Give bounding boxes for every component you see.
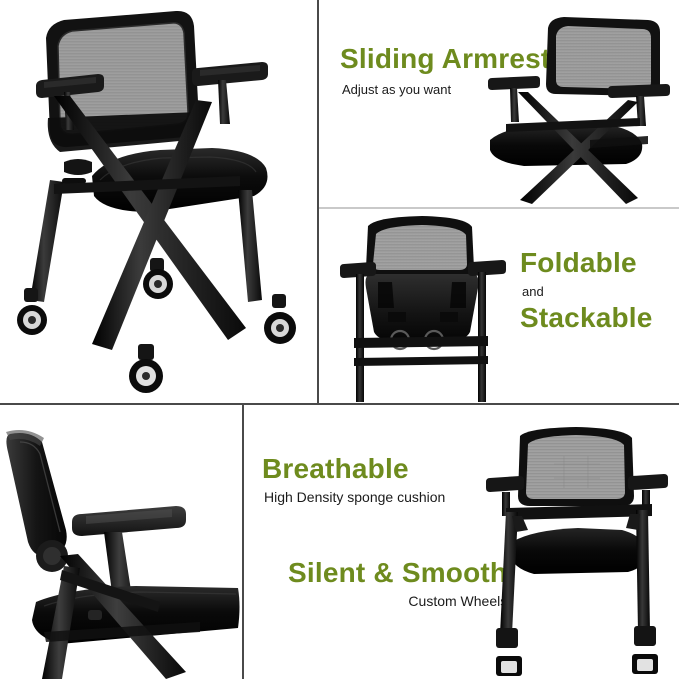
panel-foldable-stackable: Foldable and Stackable — [320, 210, 679, 403]
divider-vertical-top — [317, 0, 319, 404]
armrest-pad-left — [486, 476, 524, 492]
armrest-post-right — [218, 80, 230, 124]
armrest-pad-right — [628, 474, 668, 490]
leg-rear-right — [238, 190, 262, 302]
smooth-text-block: Silent & Smooth Custom Wheels — [288, 558, 507, 609]
foldable-text-block: Foldable and Stackable — [520, 248, 653, 333]
leg-left — [500, 512, 518, 634]
profile-chair-illustration — [0, 406, 241, 679]
smooth-subline: Custom Wheels — [288, 593, 507, 609]
panel-sliding-armrest: Sliding Armrest Adjust as you want — [320, 0, 679, 207]
stretcher-lower — [354, 356, 488, 366]
hero-chair-illustration — [0, 0, 317, 403]
armrest-pad-right — [608, 84, 670, 98]
mesh-panel — [373, 225, 467, 270]
folded-chair-illustration — [330, 212, 520, 403]
panel-hero-chair — [0, 0, 317, 403]
backrest-profile — [6, 433, 66, 557]
leg-rear-left — [30, 180, 64, 302]
panel-profile-closeup — [0, 406, 241, 679]
features-chair-illustration — [476, 420, 679, 679]
armrest-chair-illustration — [470, 14, 679, 207]
seat-cushion — [510, 528, 646, 574]
caster-front-left — [143, 258, 173, 299]
stackable-headline: Stackable — [520, 303, 653, 332]
caster-rear-right — [264, 294, 296, 344]
breathable-headline: Breathable — [262, 454, 445, 483]
armrest-pad-right — [468, 260, 506, 276]
caster-left — [496, 628, 522, 676]
divider-horizontal-main — [0, 403, 679, 405]
breathable-text-block: Breathable High Density sponge cushion — [262, 454, 445, 505]
breathable-subline: High Density sponge cushion — [264, 489, 445, 505]
caster-right — [632, 626, 658, 674]
armrest-pad-left — [488, 76, 540, 90]
frame-knob — [88, 610, 102, 620]
caster-front-right — [129, 344, 163, 393]
foldable-headline: Foldable — [520, 248, 653, 277]
foldable-connector: and — [522, 284, 653, 299]
mesh-panel — [526, 435, 625, 499]
panel-features: Breathable High Density sponge cushion S… — [244, 406, 679, 679]
product-feature-collage: Sliding Armrest Adjust as you want — [0, 0, 679, 679]
mesh-panel — [556, 26, 651, 89]
smooth-headline: Silent & Smooth — [288, 558, 507, 587]
armrest-post-left — [510, 88, 519, 122]
divider-horizontal-right — [319, 207, 679, 209]
divider-vertical-bottom — [242, 405, 244, 679]
stretcher-upper — [354, 336, 488, 348]
